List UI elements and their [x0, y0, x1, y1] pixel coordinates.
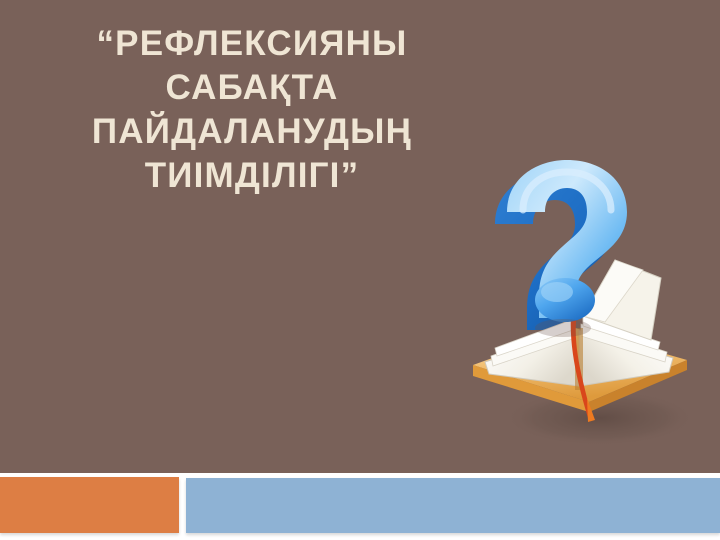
bottom-accent-bars	[0, 473, 720, 540]
accent-bar-right	[186, 478, 720, 533]
presentation-slide: “РЕФЛЕКСИЯНЫ САБАҚТА ПАЙДАЛАНУДЫҢ ТИІМДІ…	[0, 0, 720, 540]
accent-bar-left	[0, 477, 179, 533]
question-mark-over-open-book-image	[455, 150, 705, 450]
page-title: “РЕФЛЕКСИЯНЫ САБАҚТА ПАЙДАЛАНУДЫҢ ТИІМДІ…	[34, 22, 470, 198]
slide-background: “РЕФЛЕКСИЯНЫ САБАҚТА ПАЙДАЛАНУДЫҢ ТИІМДІ…	[0, 0, 720, 473]
